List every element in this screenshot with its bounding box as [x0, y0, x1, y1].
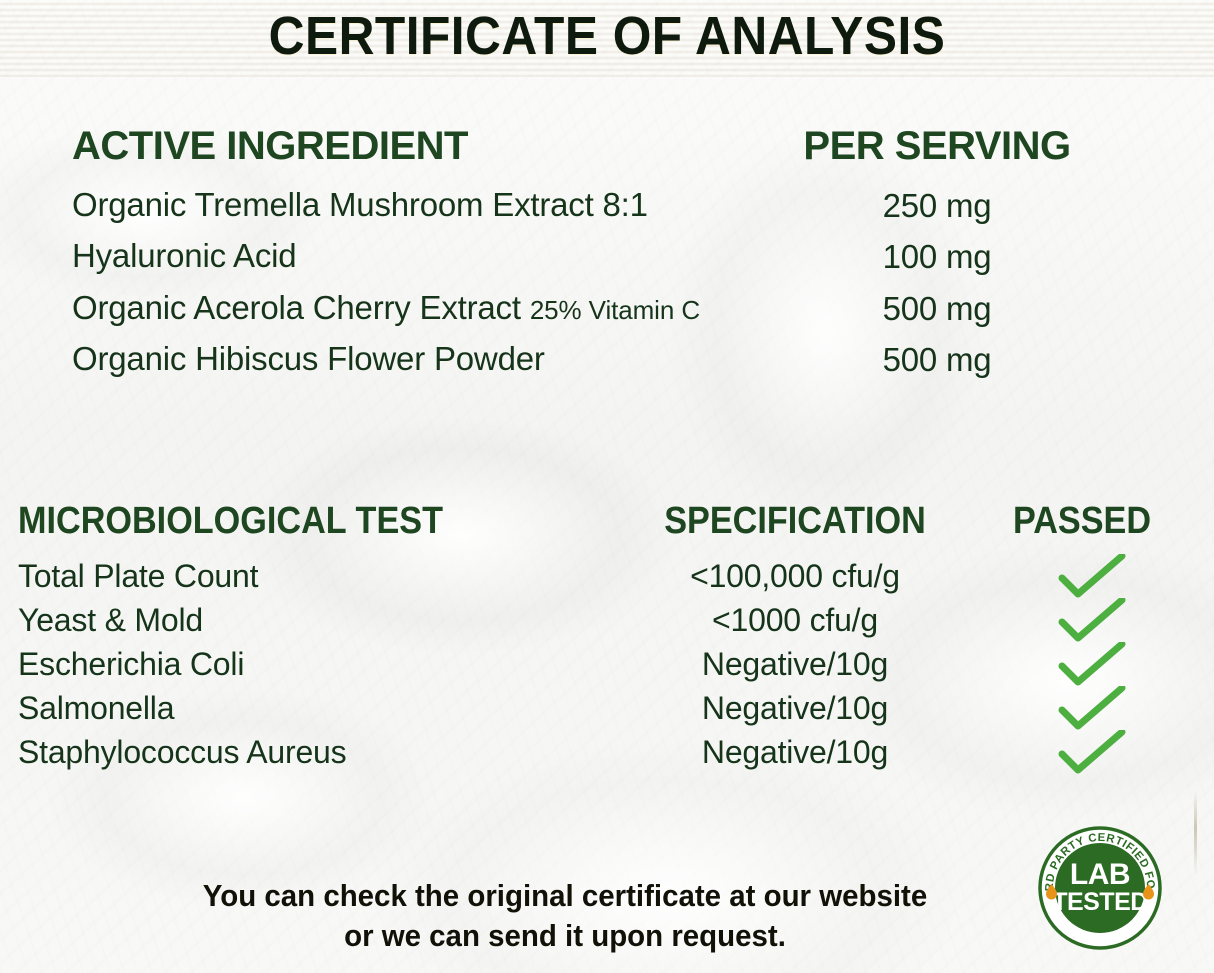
table-row: Yeast & Mold <1000 cfu/g	[0, 602, 1214, 646]
ingredient-amount: 500 mg	[742, 341, 1132, 379]
test-specification: <1000 cfu/g	[628, 602, 962, 639]
per-serving-column-header: PER SERVING	[742, 124, 1132, 169]
active-ingredient-header-row: ACTIVE INGREDIENT PER SERVING	[0, 124, 1214, 174]
ingredient-amount: 500 mg	[742, 290, 1132, 328]
test-specification: Negative/10g	[628, 734, 962, 771]
passed-column-header: PASSED	[978, 500, 1187, 543]
test-name: Salmonella	[18, 690, 174, 727]
microbiological-test-column-header: MICROBIOLOGICAL TEST	[18, 500, 443, 543]
footer-line-1: You can check the original certificate a…	[203, 878, 927, 913]
table-row: Organic Tremella Mushroom Extract 8:1 25…	[0, 186, 1214, 238]
table-row: Staphylococcus Aureus Negative/10g	[0, 734, 1214, 778]
check-icon	[1058, 730, 1128, 776]
test-name: Staphylococcus Aureus	[18, 734, 346, 771]
footer-line-2: or we can send it upon request.	[114, 916, 1017, 956]
table-row: Salmonella Negative/10g	[0, 690, 1214, 734]
specification-column-header: SPECIFICATION	[645, 500, 946, 543]
test-specification: Negative/10g	[628, 646, 962, 683]
certificate-page: CERTIFICATE OF ANALYSIS ACTIVE INGREDIEN…	[0, 0, 1214, 973]
ingredient-detail: 25% Vitamin C	[530, 295, 700, 325]
test-specification: <100,000 cfu/g	[628, 558, 962, 595]
footer-note: You can check the original certificate a…	[114, 876, 1017, 956]
ingredient-name: Organic Tremella Mushroom Extract 8:1	[72, 186, 648, 224]
table-row: Organic Hibiscus Flower Powder 500 mg	[0, 340, 1214, 392]
check-icon	[1058, 554, 1128, 600]
active-ingredient-column-header: ACTIVE INGREDIENT	[72, 124, 468, 169]
lab-tested-seal-icon: 3RD PARTY CERTIFIED FOR PURITY & POTENCY…	[1034, 822, 1166, 954]
check-icon	[1058, 598, 1128, 644]
microbiological-header-row: MICROBIOLOGICAL TEST SPECIFICATION PASSE…	[0, 500, 1214, 544]
test-name: Yeast & Mold	[18, 602, 203, 639]
check-icon	[1058, 642, 1128, 688]
ingredient-name: Hyaluronic Acid	[72, 237, 296, 275]
ingredient-amount: 100 mg	[742, 238, 1132, 276]
ingredient-name: Organic Acerola Cherry Extract 25% Vitam…	[72, 289, 700, 327]
seal-main-line-2: TESTED	[1052, 888, 1148, 916]
table-row: Hyaluronic Acid 100 mg	[0, 237, 1214, 289]
seal-main-line-1: LAB	[1070, 858, 1130, 891]
test-name: Total Plate Count	[18, 558, 258, 595]
ingredient-amount: 250 mg	[742, 187, 1132, 225]
table-row: Total Plate Count <100,000 cfu/g	[0, 558, 1214, 602]
page-title: CERTIFICATE OF ANALYSIS	[49, 0, 1166, 77]
test-name: Escherichia Coli	[18, 646, 244, 683]
check-icon	[1058, 686, 1128, 732]
ingredient-name: Organic Hibiscus Flower Powder	[72, 340, 545, 378]
table-row: Organic Acerola Cherry Extract 25% Vitam…	[0, 289, 1214, 341]
paper-edge-artifact	[1194, 790, 1197, 876]
test-specification: Negative/10g	[628, 690, 962, 727]
table-row: Escherichia Coli Negative/10g	[0, 646, 1214, 690]
